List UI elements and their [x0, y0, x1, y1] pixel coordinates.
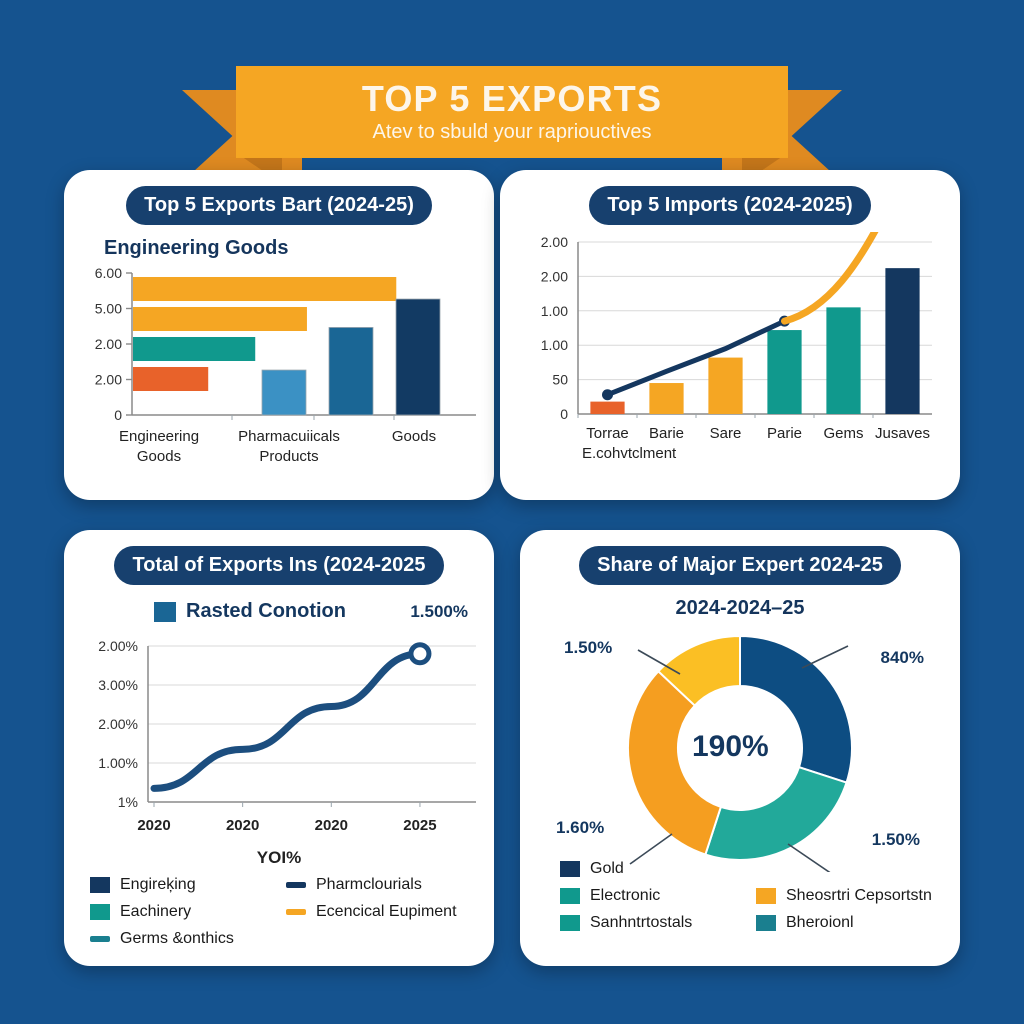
legend-item: Electronic — [560, 887, 756, 905]
card-share-donut: Share of Major Expert 2024-25 2024-2024–… — [520, 530, 960, 966]
legend-share-donut: GoldElectronicSheosrtri CepsortstnSanhnt… — [560, 860, 940, 941]
xtick-label: 2020 — [137, 817, 170, 834]
bar — [708, 358, 742, 414]
donut-callout-top-left: 1.50% — [564, 638, 612, 658]
legend-item: Eachinery — [90, 903, 286, 921]
legend-item: Germs &onthics — [90, 930, 286, 948]
ytick-label: 1.00% — [98, 755, 138, 771]
legend-swatch-icon — [90, 877, 110, 893]
inline-legend-total-line: Rasted Conotion — [154, 600, 346, 623]
ytick-label: 1% — [118, 794, 138, 810]
legend-swatch-icon — [286, 882, 306, 888]
ytick-label: 2.00 — [541, 234, 568, 250]
legend-swatch-icon — [756, 861, 776, 877]
ytick-label: 2.00 — [95, 372, 122, 388]
xaxis-extra-label: E.cohvtclment — [582, 445, 677, 462]
inline-legend-label: Rasted Conotion — [186, 600, 346, 623]
page-banner: TOP 5 EXPORTS Atev to sbuld your rapriou… — [0, 28, 1024, 168]
xtick-label: Goods — [137, 448, 181, 465]
banner-title: TOP 5 EXPORTS — [362, 80, 662, 118]
donut-callout-top-right: 840% — [881, 648, 924, 668]
bar — [649, 383, 683, 414]
legend-item: Engireķing — [90, 876, 286, 894]
legend-swatch-icon — [90, 936, 110, 942]
xtick-label: 2025 — [403, 817, 436, 834]
xtick-label: Products — [259, 448, 318, 465]
xaxis-title-total-line: YOI% — [64, 848, 494, 868]
ytick-label: 0 — [114, 407, 122, 423]
card-title-total-line: Total of Exports Ins (2024-2025 — [114, 546, 443, 585]
ytick-label: 2.00 — [541, 268, 568, 284]
xtick-label: Engineering — [119, 428, 199, 445]
ytick-label: 5.00 — [95, 301, 122, 317]
xtick-label: Gems — [823, 425, 863, 442]
line-endpoint-marker — [411, 645, 429, 663]
bar — [826, 307, 860, 414]
vertical-bar — [329, 327, 373, 415]
donut-callout-bottom-left: 1.60% — [556, 818, 604, 838]
vertical-bar — [396, 299, 440, 415]
legend-swatch-icon — [560, 888, 580, 904]
legend-label: Sheosrtri Cepsortstn — [786, 887, 932, 905]
ytick-label: 50 — [552, 372, 568, 388]
bar — [767, 330, 801, 414]
ytick-label: 6.00 — [95, 265, 122, 281]
card-imports-bar: Top 5 Imports (2024-2025) 2.002.001.001.… — [500, 170, 960, 500]
donut-center-value: 190% — [692, 730, 769, 764]
xtick-label: Barie — [649, 425, 684, 442]
bar — [590, 402, 624, 414]
legend-label: Gold — [590, 860, 624, 878]
legend-swatch-icon — [154, 602, 176, 622]
legend-item: Gold — [560, 860, 756, 878]
trend-point — [602, 389, 613, 400]
callout-leader-line — [802, 646, 848, 668]
legend-item: Sheosrtri Cepsortstn — [756, 887, 940, 905]
legend-label: Pharmclourials — [316, 876, 422, 894]
chart-exports-bar: 6.005.002.002.000EngineeringGoodsPharmac… — [64, 265, 494, 500]
xtick-label: 2020 — [226, 817, 259, 834]
series-line — [154, 654, 420, 789]
ytick-label: 3.00% — [98, 677, 138, 693]
chart-imports-bar: 2.002.001.001.00500TorraeBarieSareParieG… — [500, 232, 960, 497]
banner-ribbon: TOP 5 EXPORTS Atev to sbuld your rapriou… — [236, 66, 788, 158]
card-total-line: Total of Exports Ins (2024-2025 Rasted C… — [64, 530, 494, 966]
legend-item: Bheroionl — [756, 914, 940, 932]
legend-item: Sanhntrtostals — [560, 914, 756, 932]
legend-label: Sanhntrtostals — [590, 914, 692, 932]
donut-callout-bottom-right: 1.50% — [872, 830, 920, 850]
vertical-bar — [262, 370, 306, 415]
ytick-label: 1.00 — [541, 337, 568, 353]
legend-label: Electronic — [590, 887, 660, 905]
legend-swatch-icon — [560, 861, 580, 877]
banner-subtitle: Atev to sbuld your rapriouctives — [372, 120, 651, 144]
card-subtitle-share-donut: 2024-2024–25 — [520, 597, 960, 620]
xtick-label: Goods — [392, 428, 436, 445]
card-title-share-donut: Share of Major Expert 2024-25 — [579, 546, 901, 585]
card-exports-bar: Top 5 Exports Bart (2024-25) Engineering… — [64, 170, 494, 500]
line-end-annotation: 1.500% — [410, 602, 468, 622]
horizontal-bar — [133, 277, 396, 301]
xtick-label: 2020 — [315, 817, 348, 834]
legend-label: Ecencical Eupiment — [316, 903, 457, 921]
legend-label: Bheroionl — [786, 914, 854, 932]
ytick-label: 0 — [560, 406, 568, 422]
legend-item: Pharmclourials — [286, 876, 474, 894]
xtick-label: Pharmacuiicals — [238, 428, 340, 445]
ytick-label: 2.00 — [95, 336, 122, 352]
horizontal-bar — [133, 307, 307, 331]
xtick-label: Jusaves — [875, 425, 930, 442]
xtick-label: Parie — [767, 425, 802, 442]
chart-total-line: 2.00%3.00%2.00%1.00%1%2020202020202025 — [64, 630, 494, 845]
legend-swatch-icon — [286, 909, 306, 915]
xtick-label: Sare — [710, 425, 742, 442]
xtick-label: Torrae — [586, 425, 629, 442]
card-title-imports-bar: Top 5 Imports (2024-2025) — [589, 186, 870, 225]
donut-slice — [705, 767, 846, 860]
horizontal-bar — [133, 367, 208, 391]
ytick-label: 1.00 — [541, 303, 568, 319]
card-title-exports-bar: Top 5 Exports Bart (2024-25) — [126, 186, 432, 225]
horizontal-bar — [133, 337, 255, 361]
legend-label: Eachinery — [120, 903, 191, 921]
card-subtitle-exports-bar: Engineering Goods — [104, 237, 494, 260]
legend-label: Germs &onthics — [120, 930, 234, 948]
legend-item — [756, 860, 940, 878]
legend-swatch-icon — [90, 904, 110, 920]
bar — [885, 268, 919, 414]
legend-swatch-icon — [756, 888, 776, 904]
legend-total-line: EngireķingPharmclourialsEachineryEcencic… — [90, 876, 474, 957]
legend-item: Ecencical Eupiment — [286, 903, 474, 921]
legend-swatch-icon — [560, 915, 580, 931]
legend-swatch-icon — [756, 915, 776, 931]
legend-label: Engireķing — [120, 876, 196, 894]
ytick-label: 2.00% — [98, 716, 138, 732]
trend-line — [608, 321, 785, 395]
ytick-label: 2.00% — [98, 638, 138, 654]
